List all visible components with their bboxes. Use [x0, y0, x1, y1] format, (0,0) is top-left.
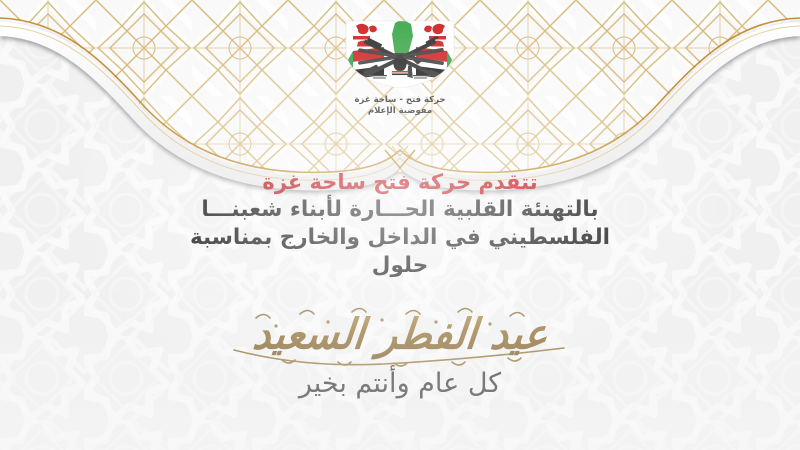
emblem-caption-line2: مفوضية الإعلام [355, 106, 446, 117]
closing-text: كل عام وأنتم بخير [299, 368, 501, 399]
emblem-caption-line1: حركة فتح - ساحة غزة [355, 95, 446, 106]
message-line-2: بالتهنئة القلبية الحـــارة لأبناء شعبنــ… [0, 196, 800, 224]
eid-calligraphy-block: عيد الفطر السعيد [0, 306, 800, 368]
closing-block: كل عام وأنتم بخير [0, 368, 800, 399]
eid-calligraphy-text: عيد الفطر السعيد [250, 305, 551, 366]
message-line-4: حلول [0, 252, 800, 280]
fatah-emblem-icon [338, 12, 462, 92]
message-line-1: تتقدم حركة فتح ساحة غزة [0, 168, 800, 196]
eid-greeting-poster: حركة فتح - ساحة غزة مفوضية الإعلام تتقدم… [0, 0, 800, 450]
emblem-block: حركة فتح - ساحة غزة مفوضية الإعلام [0, 12, 800, 118]
emblem-caption: حركة فتح - ساحة غزة مفوضية الإعلام [355, 95, 446, 118]
greeting-message-block: تتقدم حركة فتح ساحة غزة بالتهنئة القلبية… [0, 168, 800, 280]
emblem-bottom-badge [392, 71, 408, 75]
message-line-3: الفلسطيني في الداخل والخارج بمناسبة [0, 224, 800, 252]
